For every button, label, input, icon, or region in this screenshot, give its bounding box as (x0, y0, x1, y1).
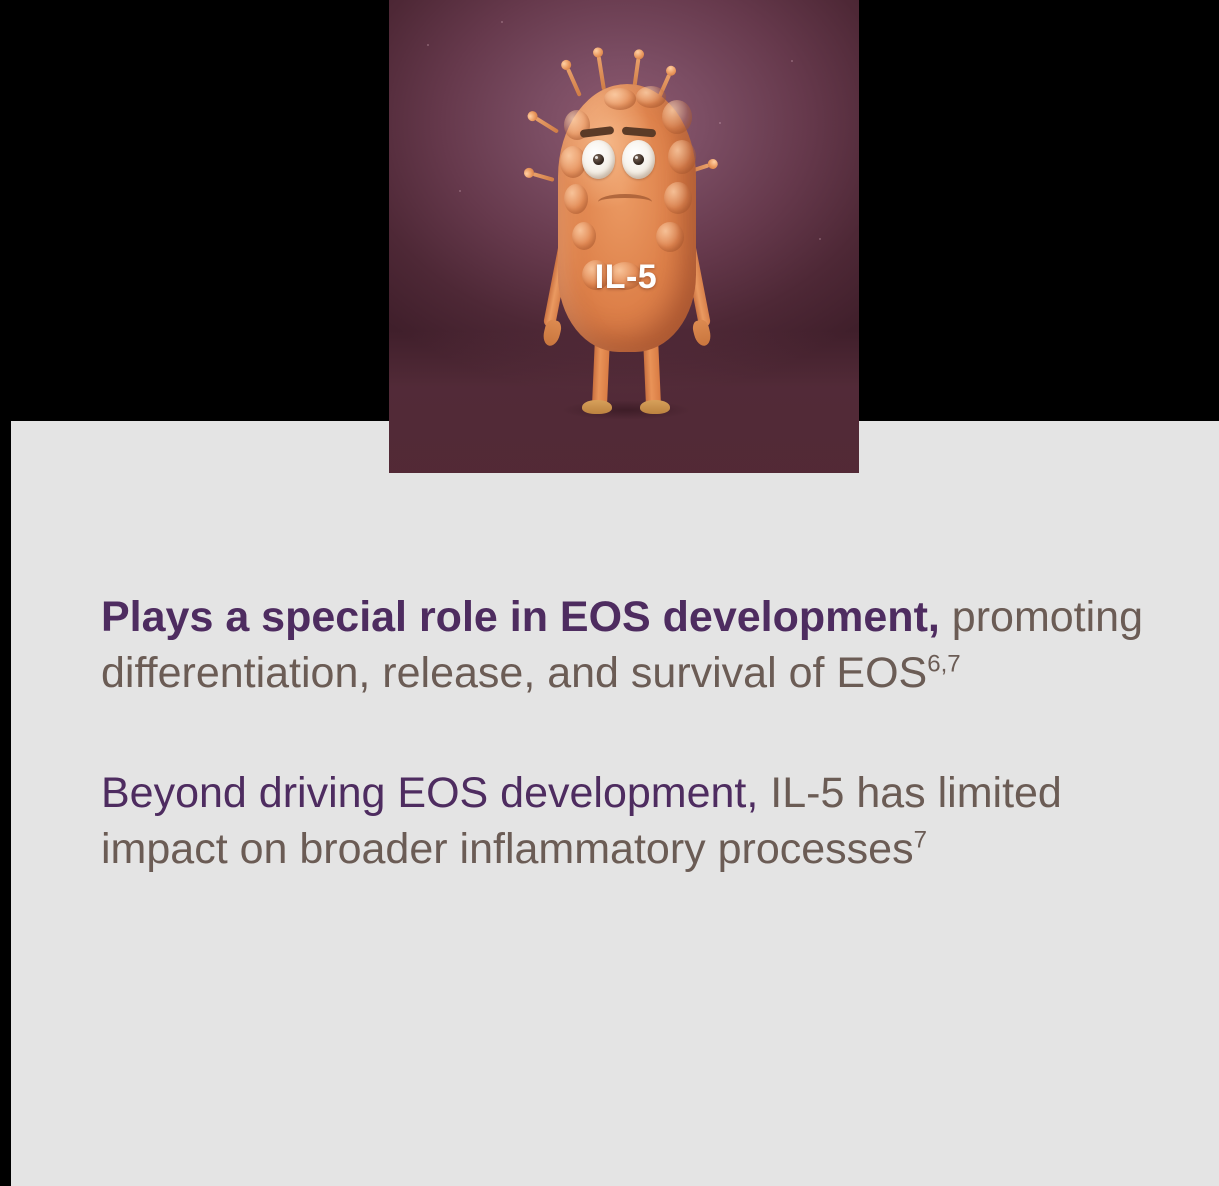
backdrop-speck (427, 44, 429, 46)
hero-image: IL-5 (389, 0, 859, 473)
body-copy: Plays a special role in EOS development,… (101, 590, 1161, 878)
character-foot-right (640, 400, 670, 414)
character-antenna (535, 117, 559, 134)
character-body (558, 84, 696, 352)
character-foot-left (582, 400, 612, 414)
slide-card: IL-5 Plays a special role in EOS develop… (0, 0, 1219, 1186)
paragraph-2-lead: Beyond driving EOS development, (101, 769, 758, 817)
character-antenna (566, 68, 582, 97)
body-bump (636, 86, 666, 108)
paragraph-2: Beyond driving EOS development, IL-5 has… (101, 766, 1161, 878)
paragraph-1: Plays a special role in EOS development,… (101, 590, 1161, 702)
cytokine-character-icon: IL-5 (520, 62, 732, 424)
paragraph-1-lead: Plays a special role in EOS development, (101, 593, 940, 641)
body-bump (564, 184, 588, 214)
character-antenna (532, 172, 554, 182)
backdrop-speck (459, 190, 461, 192)
body-bump (664, 182, 692, 214)
backdrop-speck (791, 60, 793, 62)
character-eye-left (582, 140, 615, 179)
body-bump (656, 222, 684, 252)
backdrop-speck (819, 238, 821, 240)
body-bump (662, 100, 692, 134)
body-bump (572, 222, 596, 250)
antenna-knob-icon (706, 158, 719, 171)
backdrop-speck (501, 21, 503, 23)
character-mouth (598, 194, 652, 210)
body-bump (668, 140, 696, 174)
pupil (593, 154, 604, 165)
character-eye-right (622, 140, 655, 179)
paragraph-2-superscript: 7 (914, 826, 927, 853)
character-shadow (560, 400, 692, 420)
paragraph-1-superscript: 6,7 (927, 651, 960, 678)
antenna-knob-icon (664, 64, 677, 77)
antenna-knob-icon (523, 167, 535, 179)
antenna-knob-icon (526, 109, 540, 123)
character-antenna (597, 56, 606, 90)
il5-label: IL-5 (520, 258, 732, 297)
body-bump (604, 88, 636, 110)
pupil (633, 154, 644, 165)
